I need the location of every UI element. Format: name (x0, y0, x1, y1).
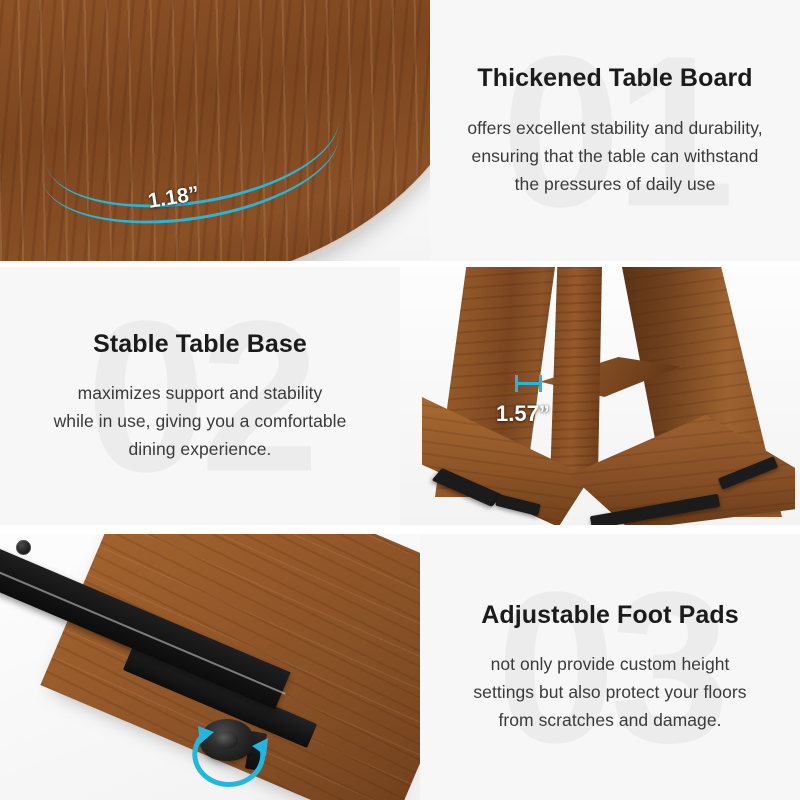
feature-body-02: maximizes support and stability while in… (14, 379, 386, 463)
rotation-arrow-icon (188, 704, 278, 778)
feature-headline-01: Thickened Table Board (444, 63, 786, 94)
feature-headline-02: Stable Table Base (14, 329, 386, 360)
body-line: not only provide custom height (434, 650, 786, 678)
body-line: dining experience. (14, 435, 386, 463)
infographic-board: 1.18” 01 Thickened Table Board offers ex… (0, 0, 800, 800)
h-marker-cap-right (539, 375, 542, 392)
body-line: from scratches and damage. (434, 706, 786, 734)
body-line: ensuring that the table can withstand (444, 142, 786, 170)
feature-body-03: not only provide custom height settings … (434, 650, 786, 734)
feature-image-foot-pad (0, 534, 420, 800)
feature-text-02: 02 Stable Table Base maximizes support a… (0, 267, 400, 525)
dimension-h-marker-icon (515, 375, 542, 392)
feature-text-01: 01 Thickened Table Board offers excellen… (430, 0, 800, 261)
body-line: settings but also protect your floors (434, 678, 786, 706)
panel-divider (0, 261, 800, 267)
body-line: offers excellent stability and durabilit… (444, 114, 786, 142)
feature-body-01: offers excellent stability and durabilit… (444, 114, 786, 198)
body-line: maximizes support and stability (14, 379, 386, 407)
h-marker-bar (515, 382, 542, 385)
body-line: while in use, giving you a comfortable (14, 407, 386, 435)
feature-image-table-board: 1.18” (0, 0, 430, 261)
base-center-post (550, 267, 602, 482)
feature-image-table-base: 1.57” (400, 267, 800, 525)
screw-head-icon (16, 540, 31, 555)
feature-panel-02: 1.57” 02 Stable Table Base maximizes sup… (0, 267, 800, 525)
feature-panel-03: 03 Adjustable Foot Pads not only provide… (0, 534, 800, 800)
dimension-label-base-thickness: 1.57” (496, 401, 550, 427)
body-line: the pressures of daily use (444, 170, 786, 198)
feature-text-03: 03 Adjustable Foot Pads not only provide… (420, 534, 800, 800)
panel-divider (0, 525, 800, 534)
feature-headline-03: Adjustable Foot Pads (434, 600, 786, 631)
feature-panel-01: 1.18” 01 Thickened Table Board offers ex… (0, 0, 800, 261)
